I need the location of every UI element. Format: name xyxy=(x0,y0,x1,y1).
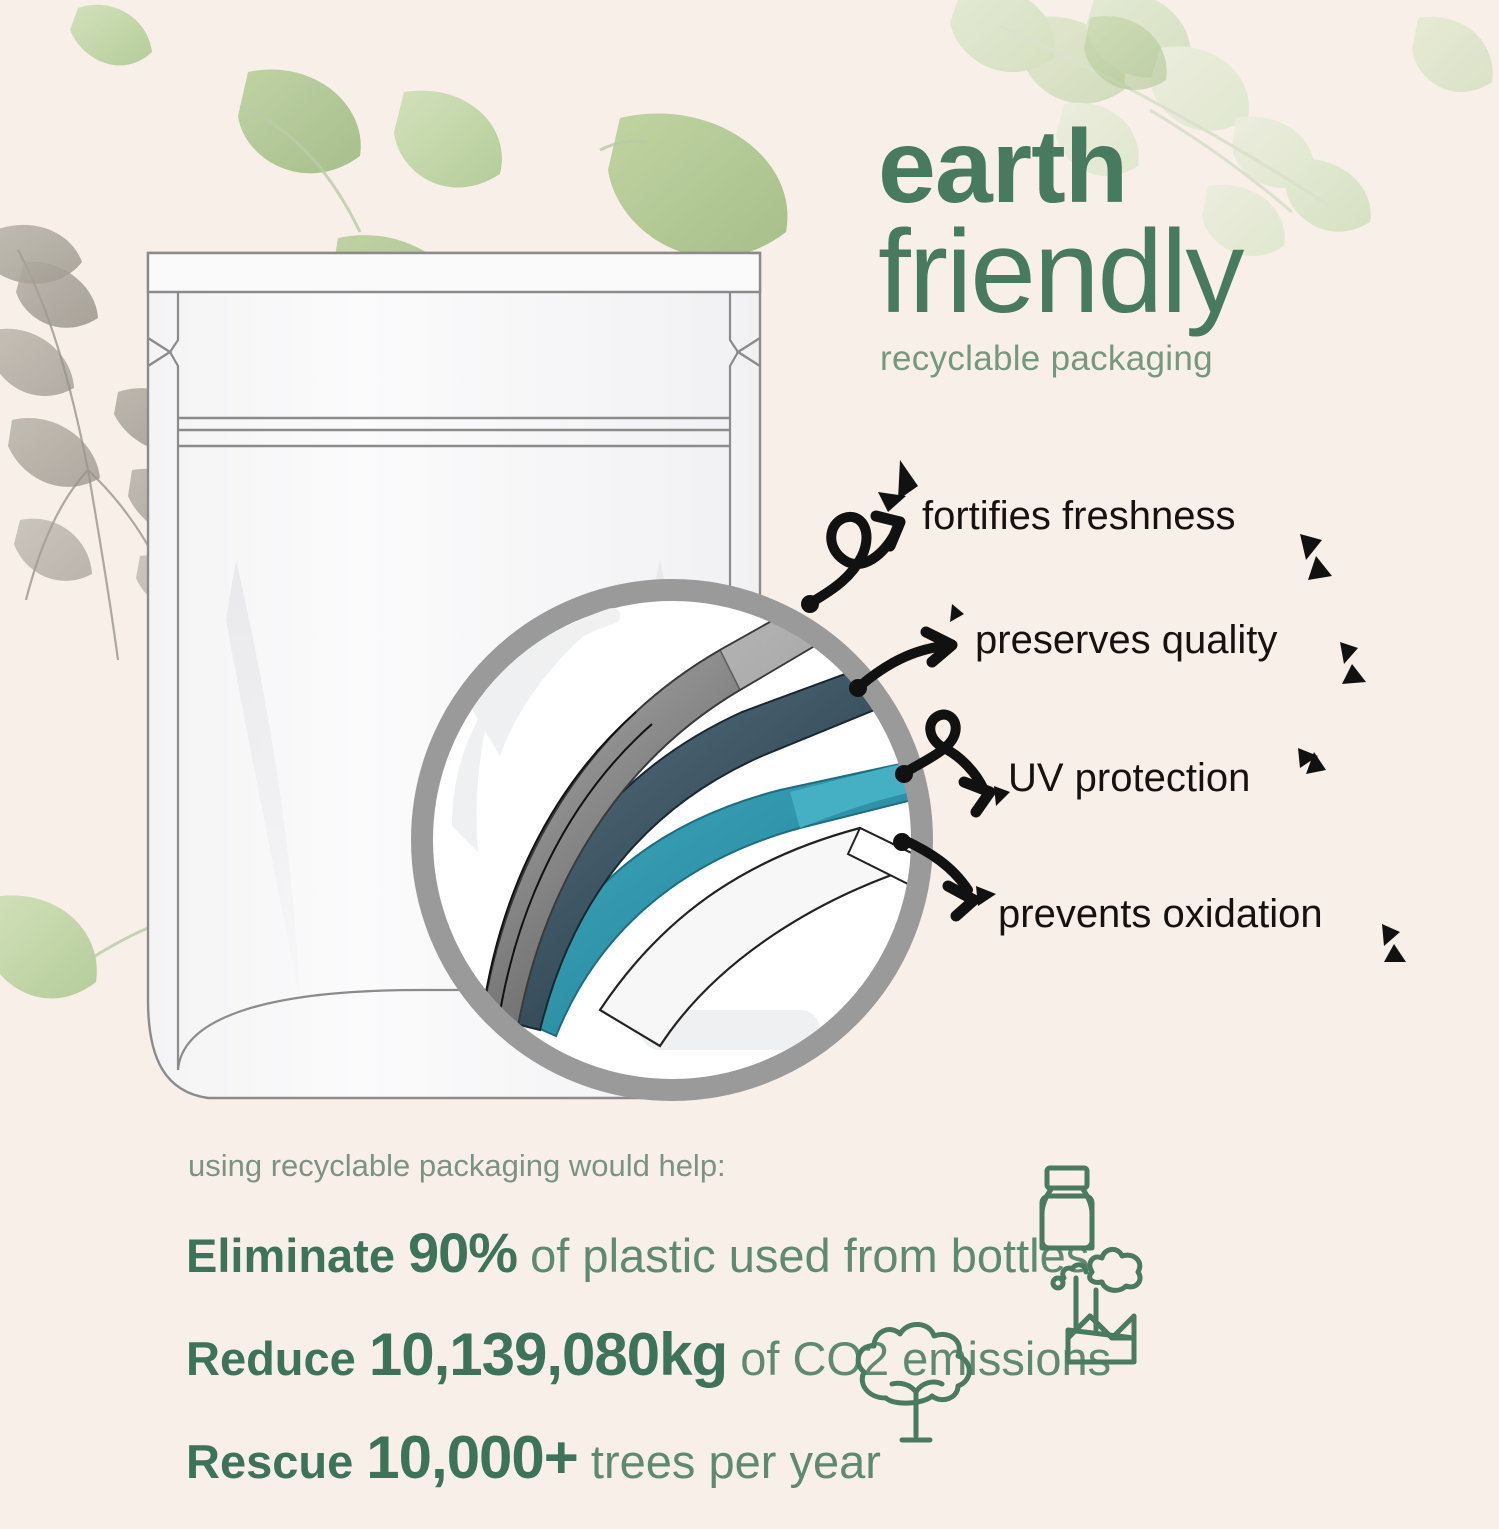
stat-icons xyxy=(0,0,1499,1500)
factory-smoke-icon xyxy=(1053,1249,1140,1362)
tree-icon xyxy=(858,1324,969,1440)
infographic-canvas: earth friendly recyclable packaging fort… xyxy=(0,0,1499,1500)
bottle-icon xyxy=(1042,1168,1092,1248)
